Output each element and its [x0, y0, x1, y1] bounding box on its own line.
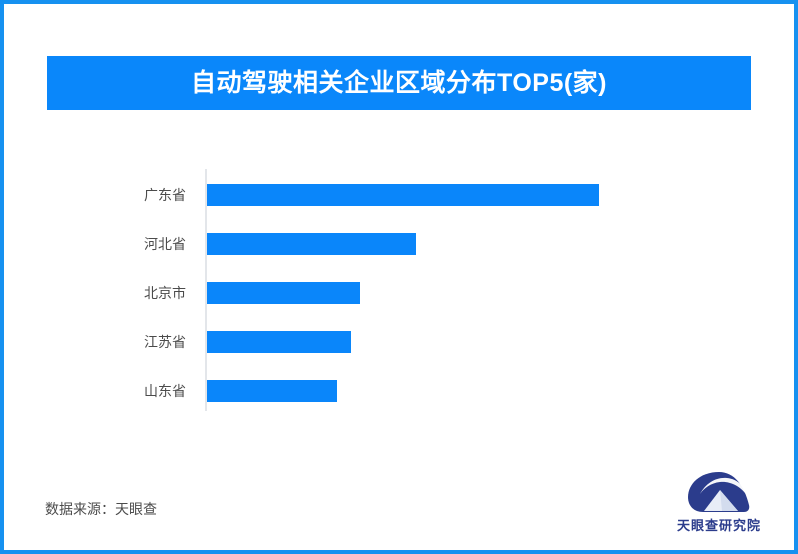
bar-track [207, 380, 337, 402]
data-source-note: 数据来源：天眼查 [45, 499, 157, 519]
bar-category-label: 北京市 [144, 282, 186, 304]
bar-value-2 [207, 282, 360, 304]
page-title: 自动驾驶相关企业区域分布TOP5(家) [191, 71, 607, 96]
chart-row: 广东省 [4, 184, 794, 206]
bar-value-1 [207, 233, 416, 255]
bar-value-3 [207, 331, 351, 353]
bar-category-label: 江苏省 [144, 331, 186, 353]
eye-mountain-logo-icon [686, 470, 752, 514]
chart-row: 河北省 [4, 233, 794, 255]
brand-logo-text: 天眼查研究院 [664, 515, 774, 534]
bar-category-label: 山东省 [144, 380, 186, 402]
bar-category-label: 广东省 [144, 184, 186, 206]
chart-row: 北京市 [4, 282, 794, 304]
bar-track [207, 282, 360, 304]
bar-chart: 广东省 河北省 北京市 江苏省 山东省 [4, 164, 794, 414]
chart-row: 江苏省 [4, 331, 794, 353]
title-banner: 自动驾驶相关企业区域分布TOP5(家) [47, 56, 751, 110]
chart-row: 山东省 [4, 380, 794, 402]
bar-track [207, 233, 416, 255]
infographic-canvas: 自动驾驶相关企业区域分布TOP5(家) 广东省 河北省 北京市 江苏省 [0, 0, 798, 554]
bar-track [207, 331, 351, 353]
bar-value-4 [207, 380, 337, 402]
brand-logo: 天眼查研究院 [664, 470, 774, 536]
bar-value-0 [207, 184, 599, 206]
bar-track [207, 184, 599, 206]
bar-category-label: 河北省 [144, 233, 186, 255]
